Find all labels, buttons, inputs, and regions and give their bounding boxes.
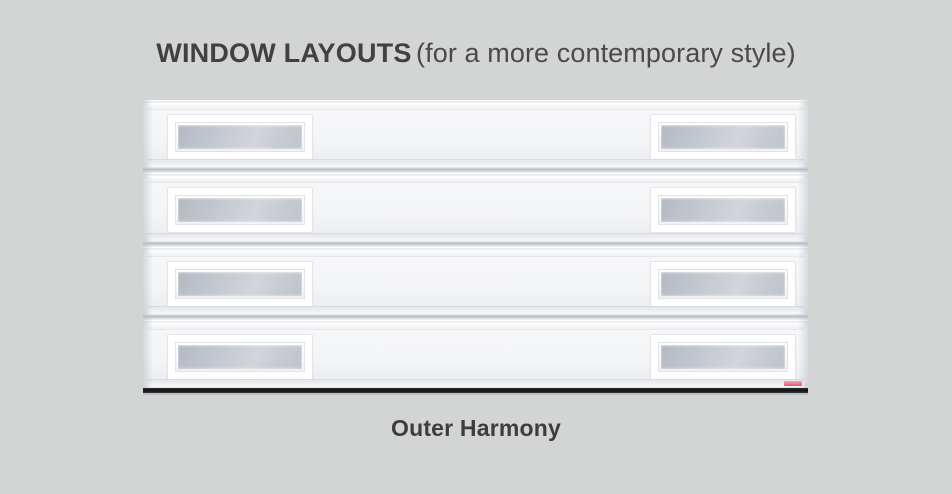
window-frame xyxy=(658,122,788,152)
window-glass xyxy=(178,125,302,149)
window-row2-left xyxy=(168,188,312,232)
window-row3-right xyxy=(651,262,795,306)
door-section-3 xyxy=(143,247,808,315)
section-seam-3 xyxy=(143,315,808,320)
page-title: WINDOW LAYOUTS (for a more contemporary … xyxy=(0,38,952,69)
garage-door-panel xyxy=(143,100,808,388)
window-glass xyxy=(178,272,302,296)
door-section-4 xyxy=(143,320,808,388)
window-frame xyxy=(175,122,305,152)
section-1-bottom-rail xyxy=(147,159,804,167)
section-4-bottom-rail xyxy=(147,379,804,387)
window-glass xyxy=(661,345,785,369)
window-frame xyxy=(175,195,305,225)
page-title-subtitle: (for a more contemporary style) xyxy=(416,38,796,68)
section-seam-2 xyxy=(143,242,808,247)
section-1-top-rail xyxy=(147,103,804,110)
page-title-bold: WINDOW LAYOUTS xyxy=(156,38,411,68)
door-section-2 xyxy=(143,173,808,241)
window-row4-left xyxy=(168,335,312,379)
garage-door-illustration xyxy=(143,100,808,393)
window-row2-right xyxy=(651,188,795,232)
product-name-caption: Outer Harmony xyxy=(0,415,952,442)
section-2-top-rail xyxy=(147,176,804,183)
window-row3-left xyxy=(168,262,312,306)
window-frame xyxy=(175,342,305,372)
window-glass xyxy=(178,345,302,369)
window-frame xyxy=(175,269,305,299)
section-3-bottom-rail xyxy=(147,306,804,314)
window-glass xyxy=(178,198,302,222)
window-frame xyxy=(658,342,788,372)
section-3-top-rail xyxy=(147,250,804,257)
door-section-1 xyxy=(143,100,808,168)
door-floor-shadow xyxy=(143,393,808,395)
window-row1-right xyxy=(651,115,795,159)
window-frame xyxy=(658,269,788,299)
window-frame xyxy=(658,195,788,225)
window-glass xyxy=(661,272,785,296)
section-seam-1 xyxy=(143,168,808,173)
window-row4-right xyxy=(651,335,795,379)
window-row1-left xyxy=(168,115,312,159)
section-2-bottom-rail xyxy=(147,233,804,241)
window-glass xyxy=(661,125,785,149)
door-sticker-label xyxy=(784,381,802,386)
window-glass xyxy=(661,198,785,222)
section-4-top-rail xyxy=(147,323,804,330)
